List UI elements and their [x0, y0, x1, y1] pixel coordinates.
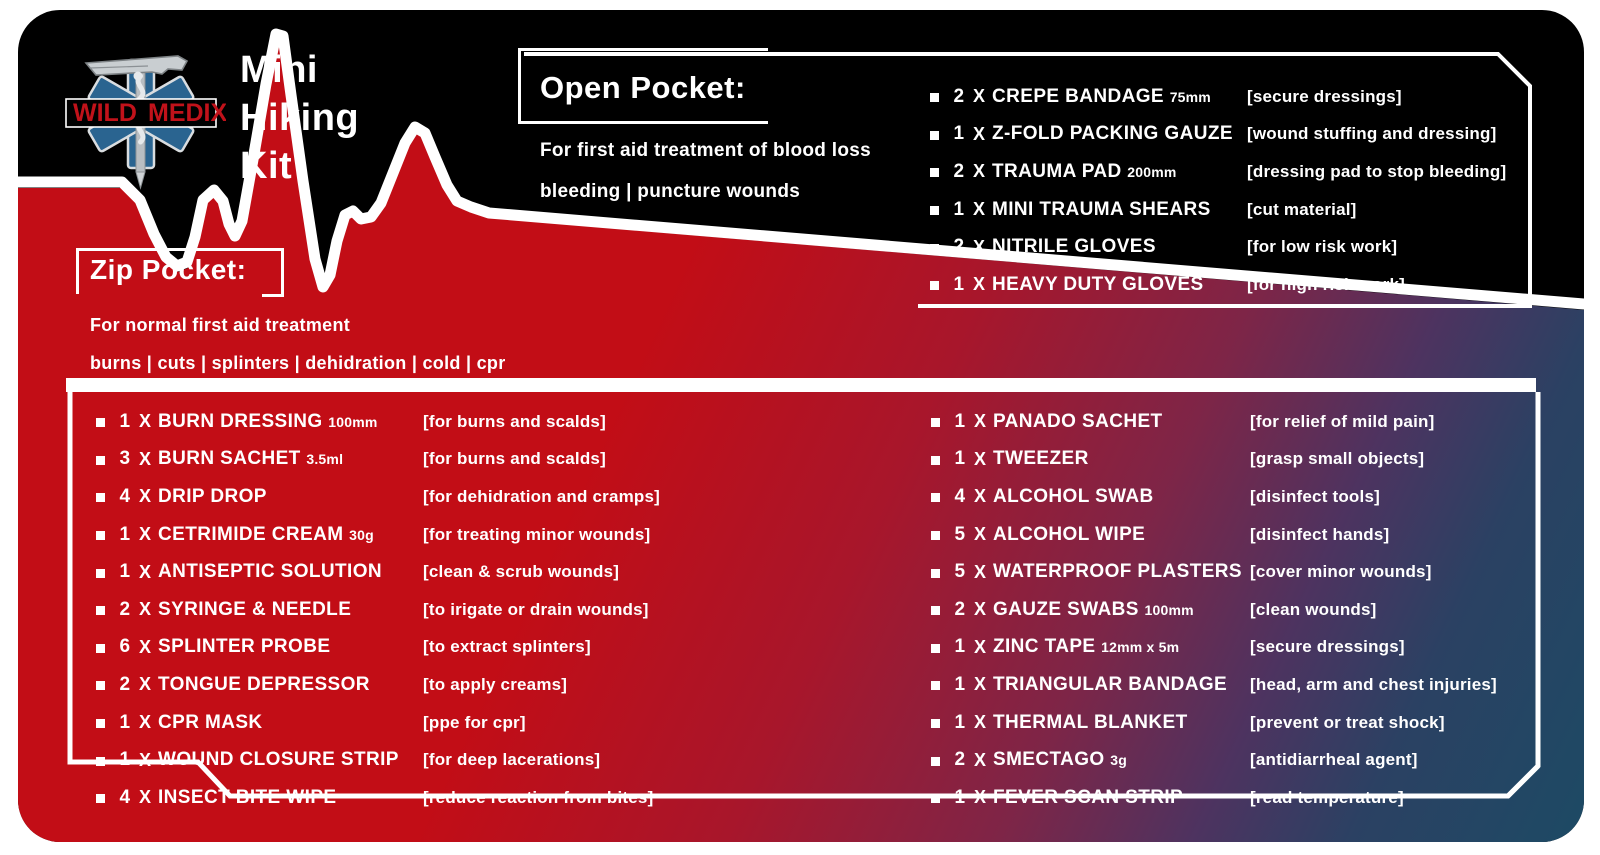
item-quantity: 2 — [118, 674, 132, 696]
item-multiplier: X — [132, 637, 158, 658]
square-bullet-icon — [931, 569, 940, 578]
item-name-size: 75mm — [1170, 89, 1211, 105]
kit-title: Mini Hiking Kit — [240, 46, 359, 190]
star-of-life-ice-axe-icon: WILD MEDIX — [56, 42, 226, 192]
item-quantity: 1 — [952, 123, 966, 145]
kit-item-row: 1XZINC TAPE 12mm x 5m[secure dressings] — [931, 629, 1497, 667]
kit-item-row: 1XPANADO SACHET[for relief of mild pain] — [931, 403, 1497, 441]
item-quantity: 1 — [952, 199, 966, 221]
open-pocket-subtitle: For first aid treatment of blood loss bl… — [540, 130, 871, 212]
item-name: ALCOHOL WIPE — [993, 524, 1250, 546]
item-description: [for deep lacerations] — [423, 750, 600, 770]
item-name: CREPE BANDAGE 75mm — [992, 86, 1247, 108]
item-multiplier: X — [967, 599, 993, 620]
kit-title-line-1: Mini — [240, 46, 359, 94]
item-name-size: 30g — [349, 527, 374, 543]
item-multiplier: X — [967, 787, 993, 808]
item-multiplier: X — [967, 411, 993, 432]
kit-item-row: 1XANTISEPTIC SOLUTION[clean & scrub woun… — [96, 553, 660, 591]
item-multiplier: X — [966, 124, 992, 145]
kit-item-row: 2XTONGUE DEPRESSOR[to apply creams] — [96, 666, 660, 704]
kit-item-row: 1XFEVER SCAN STRIP[read temperature] — [931, 779, 1497, 817]
square-bullet-icon — [931, 719, 940, 728]
item-name-size: 200mm — [1127, 164, 1176, 180]
item-quantity: 6 — [118, 636, 132, 658]
item-description: [cover minor wounds] — [1250, 562, 1432, 582]
item-multiplier: X — [132, 674, 158, 695]
item-description: [for burns and scalds] — [423, 449, 606, 469]
kit-item-row: 1XTRIANGULAR BANDAGE[head, arm and chest… — [931, 666, 1497, 704]
item-multiplier: X — [132, 750, 158, 771]
square-bullet-icon — [96, 418, 105, 427]
item-quantity: 1 — [953, 712, 967, 734]
item-multiplier: X — [966, 199, 992, 220]
open-pocket-sub-line-2: bleeding | puncture wounds — [540, 171, 871, 212]
kit-item-row: 5XALCOHOL WIPE[disinfect hands] — [931, 516, 1497, 554]
item-description: [head, arm and chest injuries] — [1250, 675, 1497, 695]
item-name: SYRINGE & NEEDLE — [158, 599, 423, 621]
kit-item-row: 1XZ-FOLD PACKING GAUZE[wound stuffing an… — [930, 116, 1506, 154]
kit-item-row: 1XCETRIMIDE CREAM 30g[for treating minor… — [96, 516, 660, 554]
square-bullet-icon — [930, 281, 939, 290]
item-name: BURN SACHET 3.5ml — [158, 448, 423, 470]
item-name: THERMAL BLANKET — [993, 712, 1250, 734]
item-quantity: 1 — [118, 712, 132, 734]
item-quantity: 2 — [952, 236, 966, 258]
item-quantity: 4 — [953, 486, 967, 508]
kit-item-row: 1XCPR MASK[ppe for cpr] — [96, 704, 660, 742]
item-description: [clean wounds] — [1250, 600, 1377, 620]
item-name: GAUZE SWABS 100mm — [993, 599, 1250, 621]
item-description: [grasp small objects] — [1250, 449, 1424, 469]
logo-text-wild: WILD — [73, 99, 137, 127]
open-pocket-sub-line-1: For first aid treatment of blood loss — [540, 130, 871, 171]
item-name: DRIP DROP — [158, 486, 423, 508]
item-quantity: 1 — [953, 787, 967, 809]
item-name: HEAVY DUTY GLOVES — [992, 274, 1247, 296]
item-description: [for relief of mild pain] — [1250, 412, 1434, 432]
item-name: ANTISEPTIC SOLUTION — [158, 561, 423, 583]
item-description: [dressing pad to stop bleeding] — [1247, 162, 1506, 182]
item-name-size: 3.5ml — [306, 451, 343, 467]
square-bullet-icon — [931, 794, 940, 803]
item-quantity: 2 — [118, 599, 132, 621]
item-multiplier: X — [966, 274, 992, 295]
zip-pocket-right-item-list: 1XPANADO SACHET[for relief of mild pain]… — [931, 403, 1497, 817]
item-multiplier: X — [132, 599, 158, 620]
item-multiplier: X — [132, 486, 158, 507]
item-name: WOUND CLOSURE STRIP — [158, 749, 423, 771]
item-multiplier: X — [966, 161, 992, 182]
square-bullet-icon — [96, 644, 105, 653]
square-bullet-icon — [931, 644, 940, 653]
item-name-size: 12mm x 5m — [1101, 639, 1179, 655]
item-name: NITRILE GLOVES — [992, 236, 1247, 258]
item-multiplier: X — [132, 411, 158, 432]
item-multiplier: X — [132, 449, 158, 470]
logo-text-medix: MEDIX — [148, 99, 226, 127]
item-quantity: 5 — [953, 524, 967, 546]
item-name: FEVER SCAN STRIP — [993, 787, 1250, 809]
kit-item-row: 1XHEAVY DUTY GLOVES[for high risk work] — [930, 266, 1506, 304]
item-multiplier: X — [967, 562, 993, 583]
square-bullet-icon — [96, 719, 105, 728]
item-quantity: 1 — [952, 274, 966, 296]
item-description: [to extract splinters] — [423, 637, 591, 657]
square-bullet-icon — [96, 456, 105, 465]
item-name: CPR MASK — [158, 712, 423, 734]
square-bullet-icon — [96, 493, 105, 502]
item-description: [secure dressings] — [1250, 637, 1405, 657]
square-bullet-icon — [931, 681, 940, 690]
open-pocket-item-list: 2XCREPE BANDAGE 75mm[secure dressings]1X… — [930, 78, 1506, 304]
item-name: BURN DRESSING 100mm — [158, 411, 423, 433]
item-quantity: 1 — [118, 749, 132, 771]
item-name-size: 100mm — [328, 414, 377, 430]
item-description: [antidiarrheal agent] — [1250, 750, 1418, 770]
item-quantity: 1 — [118, 561, 132, 583]
item-description: [cut material] — [1247, 200, 1357, 220]
item-quantity: 2 — [952, 86, 966, 108]
square-bullet-icon — [96, 569, 105, 578]
item-description: [wound stuffing and dressing] — [1247, 124, 1496, 144]
item-description: [to irigate or drain wounds] — [423, 600, 649, 620]
item-name: TONGUE DEPRESSOR — [158, 674, 423, 696]
square-bullet-icon — [931, 531, 940, 540]
item-quantity: 2 — [953, 749, 967, 771]
item-name-size: 3g — [1110, 752, 1127, 768]
zip-pocket-subtitle: For normal first aid treatment burns | c… — [90, 306, 506, 382]
item-name: ALCOHOL SWAB — [993, 486, 1250, 508]
kit-item-row: 6XSPLINTER PROBE[to extract splinters] — [96, 629, 660, 667]
kit-item-row: 1XTWEEZER[grasp small objects] — [931, 441, 1497, 479]
item-name: TRIANGULAR BANDAGE — [993, 674, 1250, 696]
zip-pocket-sub-line-2: burns | cuts | splinters | dehidration |… — [90, 344, 506, 382]
item-multiplier: X — [966, 86, 992, 107]
item-multiplier: X — [132, 712, 158, 733]
square-bullet-icon — [96, 606, 105, 615]
item-description: [for high risk work] — [1247, 275, 1405, 295]
square-bullet-icon — [930, 244, 939, 253]
item-multiplier: X — [967, 524, 993, 545]
item-description: [for dehidration and cramps] — [423, 487, 660, 507]
item-description: [secure dressings] — [1247, 87, 1402, 107]
item-quantity: 2 — [952, 161, 966, 183]
item-name: PANADO SACHET — [993, 411, 1250, 433]
item-description: [disinfect tools] — [1250, 487, 1380, 507]
item-description: [for treating minor wounds] — [423, 525, 650, 545]
item-quantity: 4 — [118, 486, 132, 508]
item-quantity: 1 — [953, 448, 967, 470]
item-quantity: 1 — [953, 674, 967, 696]
item-multiplier: X — [967, 449, 993, 470]
kit-item-row: 1XTHERMAL BLANKET[prevent or treat shock… — [931, 704, 1497, 742]
item-description: [disinfect hands] — [1250, 525, 1389, 545]
item-description: [reduce reaction from bites] — [423, 788, 653, 808]
item-name-size: 100mm — [1145, 602, 1194, 618]
square-bullet-icon — [931, 456, 940, 465]
item-name: ZINC TAPE 12mm x 5m — [993, 636, 1250, 658]
kit-item-row: 5XWATERPROOF PLASTERS[cover minor wounds… — [931, 553, 1497, 591]
item-multiplier: X — [967, 486, 993, 507]
item-description: [read temperature] — [1250, 788, 1404, 808]
item-description: [for low risk work] — [1247, 237, 1397, 257]
square-bullet-icon — [96, 794, 105, 803]
kit-title-line-3: Kit — [240, 142, 359, 190]
item-multiplier: X — [132, 524, 158, 545]
square-bullet-icon — [931, 418, 940, 427]
item-multiplier: X — [967, 637, 993, 658]
item-name: TRAUMA PAD 200mm — [992, 161, 1247, 183]
kit-item-row: 4XDRIP DROP[for dehidration and cramps] — [96, 478, 660, 516]
kit-item-row: 3XBURN SACHET 3.5ml[for burns and scalds… — [96, 441, 660, 479]
kit-item-row: 1XWOUND CLOSURE STRIP[for deep laceratio… — [96, 741, 660, 779]
kit-item-row: 4XINSECT BITE WIPE[reduce reaction from … — [96, 779, 660, 817]
hiking-kit-infographic: WILD MEDIX Mini Hiking Kit Open Pocket: … — [0, 0, 1600, 855]
item-quantity: 3 — [118, 448, 132, 470]
square-bullet-icon — [930, 168, 939, 177]
item-name: TWEEZER — [993, 448, 1250, 470]
item-name: CETRIMIDE CREAM 30g — [158, 524, 423, 546]
item-quantity: 2 — [953, 599, 967, 621]
square-bullet-icon — [931, 493, 940, 502]
item-quantity: 1 — [953, 411, 967, 433]
kit-panel: WILD MEDIX Mini Hiking Kit Open Pocket: … — [18, 10, 1584, 842]
kit-item-row: 1XBURN DRESSING 100mm[for burns and scal… — [96, 403, 660, 441]
kit-item-row: 2XCREPE BANDAGE 75mm[secure dressings] — [930, 78, 1506, 116]
item-quantity: 5 — [953, 561, 967, 583]
item-multiplier: X — [966, 237, 992, 258]
kit-title-line-2: Hiking — [240, 94, 359, 142]
item-name: INSECT BITE WIPE — [158, 787, 423, 809]
item-name: SMECTAGO 3g — [993, 749, 1250, 771]
item-name: Z-FOLD PACKING GAUZE — [992, 123, 1247, 145]
zip-pocket-heading: Zip Pocket: — [90, 254, 246, 286]
square-bullet-icon — [930, 93, 939, 102]
square-bullet-icon — [930, 131, 939, 140]
item-multiplier: X — [132, 787, 158, 808]
item-quantity: 1 — [953, 636, 967, 658]
zip-pocket-left-item-list: 1XBURN DRESSING 100mm[for burns and scal… — [96, 403, 660, 817]
kit-item-row: 2XGAUZE SWABS 100mm[clean wounds] — [931, 591, 1497, 629]
square-bullet-icon — [931, 757, 940, 766]
item-quantity: 1 — [118, 524, 132, 546]
square-bullet-icon — [96, 757, 105, 766]
item-description: [prevent or treat shock] — [1250, 713, 1445, 733]
kit-item-row: 2XNITRILE GLOVES[for low risk work] — [930, 228, 1506, 266]
kit-item-row: 1XMINI TRAUMA SHEARS[cut material] — [930, 191, 1506, 229]
kit-item-row: 2XSMECTAGO 3g[antidiarrheal agent] — [931, 741, 1497, 779]
wild-medix-logo: WILD MEDIX — [56, 42, 226, 192]
kit-item-row: 2XTRAUMA PAD 200mm[dressing pad to stop … — [930, 153, 1506, 191]
item-name: WATERPROOF PLASTERS — [993, 561, 1250, 583]
square-bullet-icon — [931, 606, 940, 615]
item-multiplier: X — [967, 712, 993, 733]
item-description: [for burns and scalds] — [423, 412, 606, 432]
item-multiplier: X — [967, 674, 993, 695]
item-multiplier: X — [967, 750, 993, 771]
square-bullet-icon — [96, 531, 105, 540]
item-description: [to apply creams] — [423, 675, 567, 695]
square-bullet-icon — [930, 206, 939, 215]
square-bullet-icon — [96, 681, 105, 690]
open-pocket-heading: Open Pocket: — [540, 70, 746, 106]
kit-item-row: 4XALCOHOL SWAB[disinfect tools] — [931, 478, 1497, 516]
zip-pocket-sub-line-1: For normal first aid treatment — [90, 306, 506, 344]
item-multiplier: X — [132, 562, 158, 583]
kit-item-row: 2XSYRINGE & NEEDLE[to irigate or drain w… — [96, 591, 660, 629]
item-quantity: 1 — [118, 411, 132, 433]
item-name: SPLINTER PROBE — [158, 636, 423, 658]
item-description: [ppe for cpr] — [423, 713, 526, 733]
item-name: MINI TRAUMA SHEARS — [992, 199, 1247, 221]
item-quantity: 4 — [118, 787, 132, 809]
item-description: [clean & scrub wounds] — [423, 562, 619, 582]
